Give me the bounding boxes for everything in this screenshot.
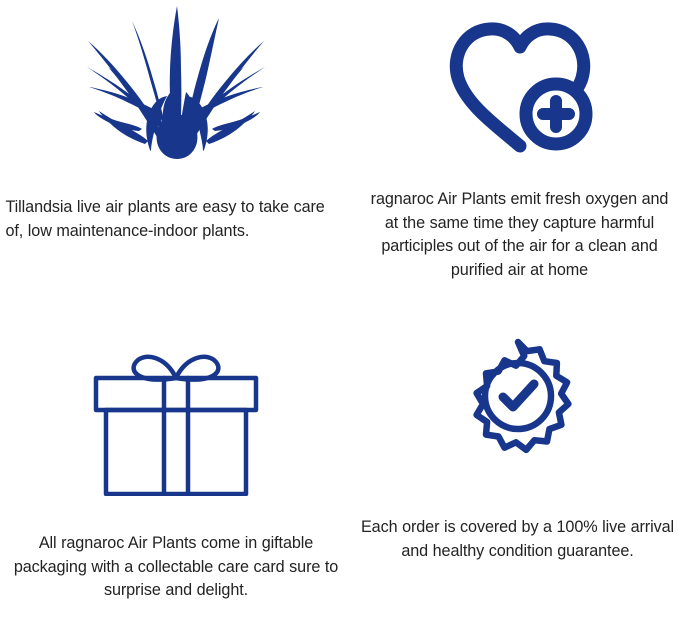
feature-text-air-plant-care: Tillandsia live air plants are easy to t… <box>1 196 352 243</box>
heart-plus-icon <box>362 16 677 156</box>
feature-text-giftable-packaging: All ragnaroc Air Plants come in giftable… <box>6 532 346 603</box>
feature-cell-air-plant-care: Tillandsia live air plants are easy to t… <box>0 0 352 308</box>
quality-seal-check-icon <box>360 334 675 474</box>
feature-cell-live-arrival-guarantee: Each order is covered by a 100% live arr… <box>352 308 679 617</box>
feature-text-live-arrival-guarantee: Each order is covered by a 100% live arr… <box>360 516 675 563</box>
feature-grid: Tillandsia live air plants are easy to t… <box>0 0 679 617</box>
feature-text-fresh-oxygen: ragnaroc Air Plants emit fresh oxygen an… <box>362 188 677 282</box>
gift-box-icon <box>6 350 346 496</box>
feature-cell-giftable-packaging: All ragnaroc Air Plants come in giftable… <box>0 308 352 617</box>
feature-cell-fresh-oxygen: ragnaroc Air Plants emit fresh oxygen an… <box>352 0 679 308</box>
air-plant-icon <box>6 4 346 164</box>
